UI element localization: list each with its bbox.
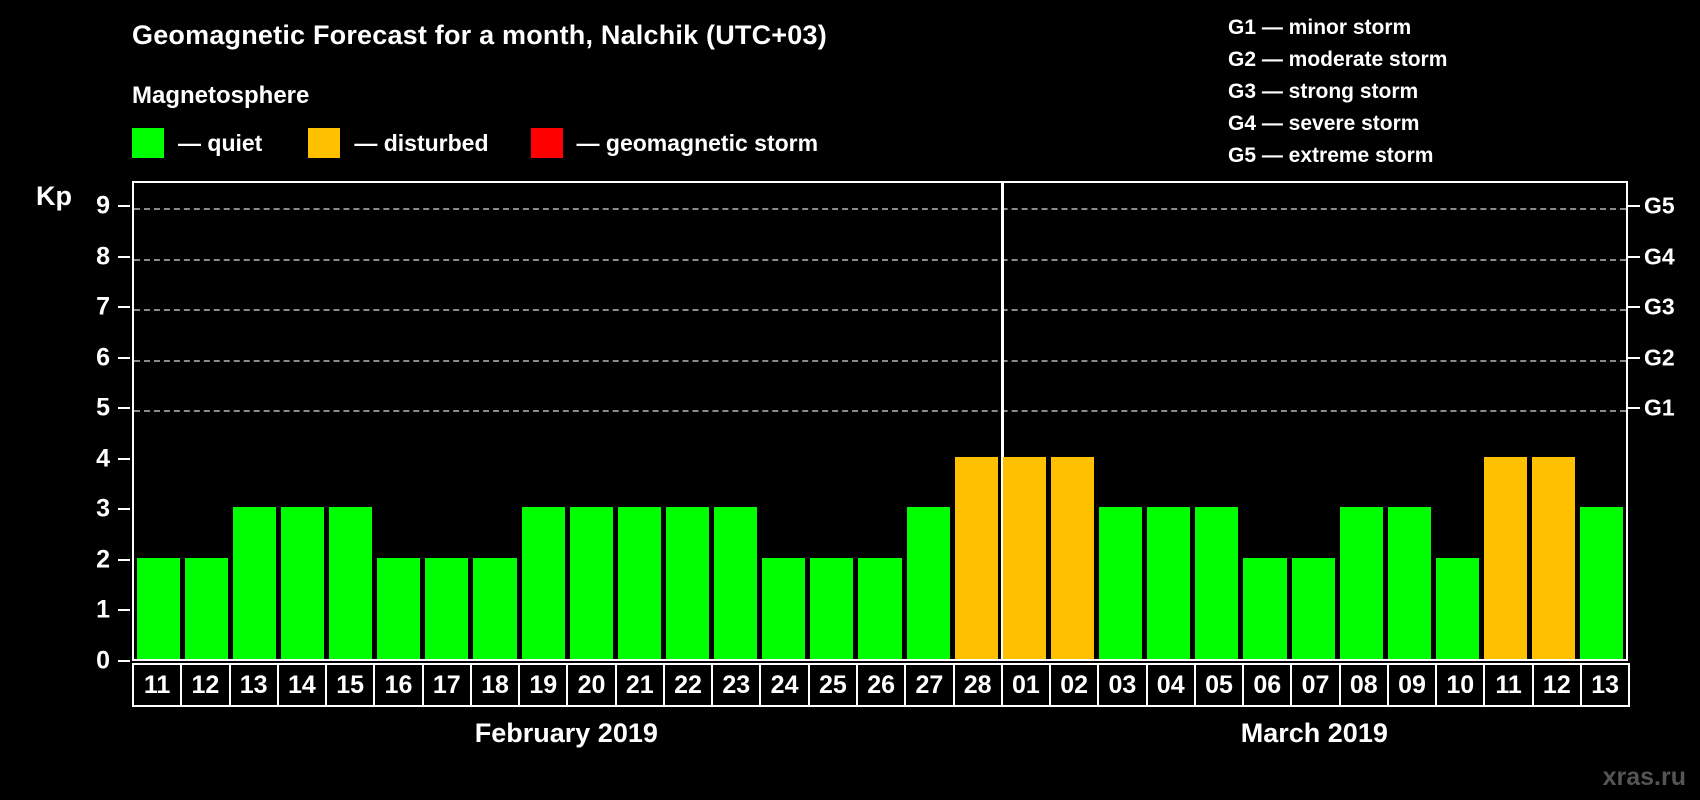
bar-cell[interactable] (1241, 183, 1289, 659)
y-axis-tick-label: 7 (96, 293, 110, 322)
bar[interactable] (955, 457, 998, 659)
g-axis-tick-mark (1628, 357, 1640, 359)
bar[interactable] (522, 507, 565, 659)
g-axis-tick-mark (1628, 256, 1640, 258)
x-axis-day-label[interactable]: 06 (1242, 663, 1292, 707)
x-axis-day-label[interactable]: 04 (1146, 663, 1196, 707)
y-axis-tick-label: 4 (96, 444, 110, 473)
x-axis-day-label[interactable]: 11 (1483, 663, 1533, 707)
bar-cell[interactable] (1193, 183, 1241, 659)
bar[interactable] (137, 558, 180, 659)
bar-cell[interactable] (952, 183, 1000, 659)
bar-cell[interactable] (904, 183, 952, 659)
y-axis: 0123456789 (0, 181, 132, 661)
y-axis-tick-mark (118, 609, 130, 611)
storm-scale-g1: G1 — minor storm (1228, 12, 1447, 44)
y-axis-tick-label: 1 (96, 596, 110, 625)
bar[interactable] (618, 507, 661, 659)
legend-label-disturbed: — disturbed (354, 130, 488, 157)
y-axis-tick-label: 6 (96, 343, 110, 372)
bar-cell[interactable] (1433, 183, 1481, 659)
bar-cell[interactable] (1048, 183, 1096, 659)
g-axis-tick-label: G3 (1644, 294, 1675, 321)
x-axis-day-label[interactable]: 09 (1387, 663, 1437, 707)
y-axis-tick-mark (118, 407, 130, 409)
x-axis-day-label[interactable]: 21 (615, 663, 665, 707)
bar[interactable] (281, 507, 324, 659)
x-axis-day-labels: 1112131415161718192021222324252627280102… (132, 663, 1628, 707)
x-axis-day-label[interactable]: 26 (856, 663, 906, 707)
bar-cell[interactable] (1289, 183, 1337, 659)
bar[interactable] (858, 558, 901, 659)
bar-cell[interactable] (760, 183, 808, 659)
x-axis-day-label[interactable]: 11 (132, 663, 182, 707)
bar-cell[interactable] (856, 183, 904, 659)
y-axis-tick-mark (118, 458, 130, 460)
storm-scale-g3: G3 — strong storm (1228, 76, 1447, 108)
bar[interactable] (377, 558, 420, 659)
x-axis-day-label[interactable]: 10 (1435, 663, 1485, 707)
bar[interactable] (473, 558, 516, 659)
storm-scale-g2: G2 — moderate storm (1228, 44, 1447, 76)
y-axis-tick-label: 0 (96, 647, 110, 676)
bar-cell[interactable] (134, 183, 182, 659)
bar-cell[interactable] (567, 183, 615, 659)
watermark: xras.ru (1603, 763, 1686, 792)
bar-cell[interactable] (1000, 183, 1048, 659)
x-axis-day-label[interactable]: 25 (808, 663, 858, 707)
x-axis-day-label[interactable]: 19 (518, 663, 568, 707)
g-axis-tick-label: G1 (1644, 395, 1675, 422)
storm-scale-g4: G4 — severe storm (1228, 108, 1447, 140)
x-axis-day-label[interactable]: 18 (470, 663, 520, 707)
bar-cell[interactable] (230, 183, 278, 659)
x-axis-day-label[interactable]: 15 (325, 663, 375, 707)
bar[interactable] (1580, 507, 1623, 659)
x-axis-day-label[interactable]: 01 (1001, 663, 1051, 707)
bar-cell[interactable] (519, 183, 567, 659)
y-axis-tick-mark (118, 256, 130, 258)
bar-cell[interactable] (808, 183, 856, 659)
y-axis-tick-mark (118, 508, 130, 510)
g-scale-axis: G1G2G3G4G5 (1628, 181, 1700, 661)
red-square-icon (531, 128, 563, 158)
x-axis-day-label[interactable]: 23 (711, 663, 761, 707)
bar[interactable] (329, 507, 372, 659)
legend-item-storm: — geomagnetic storm (531, 128, 819, 158)
bar[interactable] (1340, 507, 1383, 659)
y-axis-tick-mark (118, 559, 130, 561)
bar[interactable] (1099, 507, 1142, 659)
y-axis-tick-mark (118, 205, 130, 207)
storm-scale-g5: G5 — extreme storm (1228, 140, 1447, 172)
magnetosphere-label: Magnetosphere (132, 82, 309, 110)
legend-item-disturbed: — disturbed (308, 128, 488, 158)
y-axis-tick-label: 2 (96, 545, 110, 574)
bar[interactable] (425, 558, 468, 659)
bar-cell[interactable] (278, 183, 326, 659)
green-square-icon (132, 128, 164, 158)
bar[interactable] (810, 558, 853, 659)
x-axis-month-label: March 2019 (1241, 718, 1388, 749)
bar-series (134, 183, 1626, 659)
bar-cell[interactable] (1482, 183, 1530, 659)
x-axis-day-label[interactable]: 03 (1097, 663, 1147, 707)
g-axis-tick-label: G5 (1644, 193, 1675, 220)
g-axis-tick-label: G2 (1644, 344, 1675, 371)
x-axis-month-label: February 2019 (475, 718, 658, 749)
bar[interactable] (1195, 507, 1238, 659)
x-axis-day-label[interactable]: 27 (904, 663, 954, 707)
x-axis-day-label[interactable]: 20 (566, 663, 616, 707)
bar-cell[interactable] (1145, 183, 1193, 659)
x-axis-day-label[interactable]: 24 (759, 663, 809, 707)
y-axis-tick-mark (118, 357, 130, 359)
bar-cell[interactable] (1578, 183, 1626, 659)
bar-cell[interactable] (471, 183, 519, 659)
y-axis-tick-label: 9 (96, 192, 110, 221)
x-axis-day-label[interactable]: 12 (180, 663, 230, 707)
storm-scale-legend: G1 — minor storm G2 — moderate storm G3 … (1228, 12, 1447, 172)
bar[interactable] (762, 558, 805, 659)
bar-cell[interactable] (375, 183, 423, 659)
bar-cell[interactable] (663, 183, 711, 659)
page-title: Geomagnetic Forecast for a month, Nalchi… (132, 20, 827, 51)
bar[interactable] (1484, 457, 1527, 659)
bar-cell[interactable] (615, 183, 663, 659)
bar[interactable] (570, 507, 613, 659)
g-axis-tick-label: G4 (1644, 243, 1675, 270)
y-axis-tick-label: 3 (96, 495, 110, 524)
g-axis-tick-mark (1628, 407, 1640, 409)
bar-cell[interactable] (327, 183, 375, 659)
bar-cell[interactable] (712, 183, 760, 659)
bar[interactable] (185, 558, 228, 659)
x-axis-day-label[interactable]: 07 (1290, 663, 1340, 707)
x-axis-day-label[interactable]: 13 (1580, 663, 1630, 707)
x-axis-day-label[interactable]: 14 (277, 663, 327, 707)
g-axis-tick-mark (1628, 205, 1640, 207)
legend: — quiet — disturbed — geomagnetic storm (132, 128, 818, 158)
x-axis-day-label[interactable]: 12 (1532, 663, 1582, 707)
y-axis-tick-label: 5 (96, 394, 110, 423)
x-axis-day-label[interactable]: 28 (953, 663, 1003, 707)
bar[interactable] (1388, 507, 1431, 659)
g-axis-tick-mark (1628, 306, 1640, 308)
bar-cell[interactable] (1530, 183, 1578, 659)
x-axis-day-label[interactable]: 16 (373, 663, 423, 707)
bar[interactable] (1532, 457, 1575, 659)
bar[interactable] (666, 507, 709, 659)
bar[interactable] (1436, 558, 1479, 659)
legend-label-quiet: — quiet (178, 130, 262, 157)
bar-cell[interactable] (1097, 183, 1145, 659)
bar-cell[interactable] (1337, 183, 1385, 659)
x-axis-day-label[interactable]: 05 (1194, 663, 1244, 707)
y-axis-tick-label: 8 (96, 242, 110, 271)
x-axis-day-label[interactable]: 13 (229, 663, 279, 707)
bar[interactable] (1147, 507, 1190, 659)
bar[interactable] (233, 507, 276, 659)
bar-cell[interactable] (423, 183, 471, 659)
bar[interactable] (1243, 558, 1286, 659)
bar[interactable] (907, 507, 950, 659)
bar[interactable] (1051, 457, 1094, 659)
bar[interactable] (714, 507, 757, 659)
y-axis-tick-mark (118, 306, 130, 308)
bar[interactable] (1292, 558, 1335, 659)
x-axis-day-label[interactable]: 22 (663, 663, 713, 707)
chart-plot-area (132, 181, 1628, 661)
bar-cell[interactable] (1385, 183, 1433, 659)
bar-cell[interactable] (182, 183, 230, 659)
x-axis-day-label[interactable]: 02 (1049, 663, 1099, 707)
x-axis-day-label[interactable]: 08 (1339, 663, 1389, 707)
legend-item-quiet: — quiet (132, 128, 262, 158)
x-axis-month-labels: February 2019March 2019 (132, 718, 1628, 758)
orange-square-icon (308, 128, 340, 158)
y-axis-tick-mark (118, 660, 130, 662)
legend-label-storm: — geomagnetic storm (577, 130, 819, 157)
bar[interactable] (1003, 457, 1046, 659)
x-axis-day-label[interactable]: 17 (422, 663, 472, 707)
